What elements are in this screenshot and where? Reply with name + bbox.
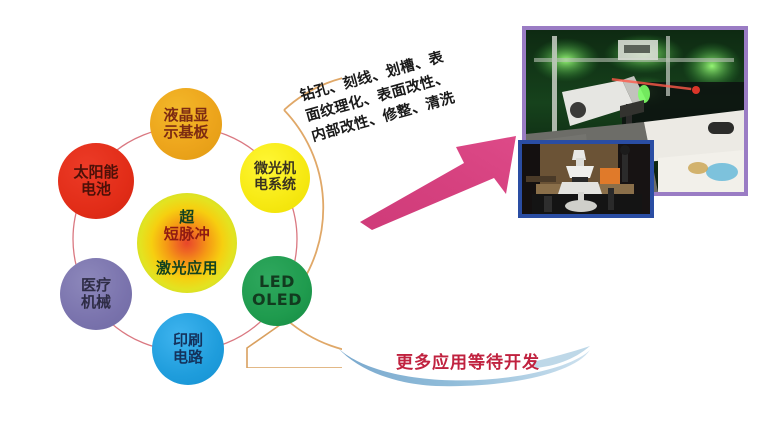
node-solar-cell-label: 太阳能 电池 xyxy=(73,164,118,198)
node-mems[interactable]: 微光机 电系统 xyxy=(240,143,310,213)
node-solar-cell[interactable]: 太阳能 电池 xyxy=(58,143,134,219)
node-mems-label: 微光机 电系统 xyxy=(254,162,296,193)
node-medical-machinery[interactable]: 医疗 机械 xyxy=(60,258,132,330)
diagram-canvas: 太阳能 电池 液晶显 示基板 微光机 电系统 LED OLED 印刷 电路 医疗… xyxy=(0,0,775,426)
arrow-shape xyxy=(360,136,516,230)
node-center-ultrashort-pulse-laser[interactable]: 超短脉冲激光应用 xyxy=(137,193,237,293)
node-led-oled[interactable]: LED OLED xyxy=(242,256,312,326)
node-printed-circuit[interactable]: 印刷 电路 xyxy=(152,313,224,385)
node-led-oled-label: LED OLED xyxy=(252,273,302,309)
node-lcd-substrate-label: 液晶显 示基板 xyxy=(163,107,208,141)
node-medical-machinery-label: 医疗 机械 xyxy=(81,277,111,311)
node-center-label: 超短脉冲激光应用 xyxy=(156,209,218,276)
banner-label: 更多应用等待开发 xyxy=(378,355,558,372)
node-lcd-substrate[interactable]: 液晶显 示基板 xyxy=(150,88,222,160)
node-printed-circuit-label: 印刷 电路 xyxy=(173,332,203,366)
photo-microscope xyxy=(518,140,654,218)
pink-arrow xyxy=(356,130,526,230)
application-wheel: 太阳能 电池 液晶显 示基板 微光机 电系统 LED OLED 印刷 电路 医疗… xyxy=(42,58,342,368)
more-applications-banner: 更多应用等待开发 xyxy=(336,344,592,392)
